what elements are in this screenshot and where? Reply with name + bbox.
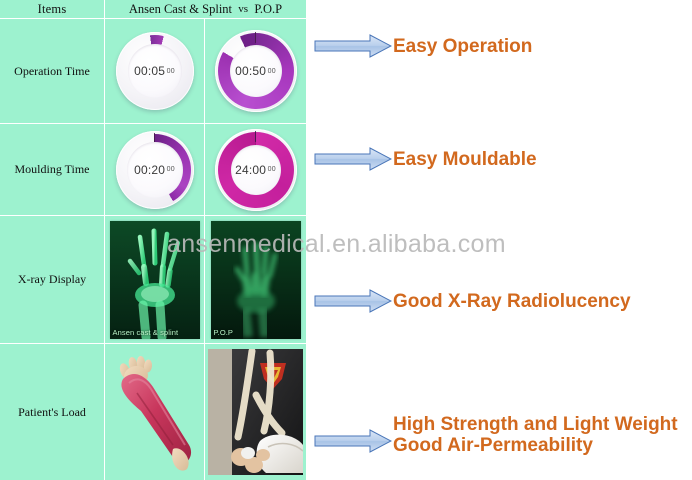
annotation-text-block: High Strength and Light Weight Good Air-… <box>392 414 678 456</box>
row-label-patients-load: Patient's Load <box>0 344 105 480</box>
photo-arm-sling <box>208 349 303 475</box>
pink-cast-arm-illustration <box>107 349 202 475</box>
table-row: Moulding Time 00:2000 <box>0 124 306 216</box>
gauge-value-sub: 00 <box>167 166 175 173</box>
right-arrow-icon <box>314 146 392 172</box>
cell-operation-time-pop: 00:5000 <box>205 19 306 123</box>
annotation-easy-operation: Easy Operation <box>314 33 532 59</box>
comparison-infographic: Items Ansen Cast & Splint vs P.O.P Opera… <box>0 0 692 480</box>
cell-moulding-time-pop: 24:0000 <box>205 124 306 215</box>
right-arrow-icon <box>314 428 392 454</box>
header-compare-cell: Ansen Cast & Splint vs P.O.P <box>105 0 306 18</box>
gauge-moulding-pop: 24:0000 <box>215 129 297 211</box>
cell-operation-time-ansen: 00:0500 <box>105 19 205 123</box>
annotation-strength-permeability: High Strength and Light Weight Good Air-… <box>314 414 678 456</box>
gauge-value: 00:05 <box>134 64 165 78</box>
gauge-value: 24:00 <box>235 163 266 177</box>
gauge-value-label: 24:0000 <box>215 129 297 211</box>
right-arrow-icon <box>314 288 392 314</box>
annotation-xray-radiolucency: Good X-Ray Radiolucency <box>314 288 631 314</box>
arm-sling-photo-illustration <box>208 349 303 475</box>
photo-pink-cast-arm <box>107 349 202 475</box>
header-product-right: P.O.P <box>254 2 282 17</box>
watermark-text: ansenmedical.en.alibaba.com <box>167 230 506 259</box>
gauge-value-label: 00:2000 <box>116 131 194 209</box>
cell-moulding-time-ansen: 00:2000 <box>105 124 205 215</box>
gauge-operation-pop: 00:5000 <box>215 30 297 112</box>
gauge-value-label: 00:5000 <box>215 30 297 112</box>
annotation-text: Easy Mouldable <box>393 149 537 170</box>
xray-caption: P.O.P <box>214 328 234 337</box>
gauge-value-sub: 00 <box>167 68 175 75</box>
annotation-text: Easy Operation <box>393 36 532 57</box>
annotation-easy-mouldable: Easy Mouldable <box>314 146 537 172</box>
table-header-row: Items Ansen Cast & Splint vs P.O.P <box>0 0 306 19</box>
header-vs: vs <box>238 3 248 15</box>
cell-load-ansen <box>105 344 205 480</box>
gauge-moulding-ansen: 00:2000 <box>116 131 194 209</box>
annotation-text-line-1: High Strength and Light Weight <box>393 414 678 435</box>
gauge-value-sub: 00 <box>268 166 276 173</box>
right-arrow-icon <box>314 33 392 59</box>
xray-caption: Ansen cast & splint <box>113 328 179 337</box>
gauge-value-label: 00:0500 <box>116 32 194 110</box>
table-row: Operation Time 00:0500 <box>0 19 306 124</box>
annotation-text: Good X-Ray Radiolucency <box>393 291 631 312</box>
cell-load-pop <box>205 344 306 480</box>
header-product-left: Ansen Cast & Splint <box>129 2 232 17</box>
gauge-value: 00:20 <box>134 163 165 177</box>
row-label-xray-display: X-ray Display <box>0 216 105 343</box>
gauge-operation-ansen: 00:0500 <box>116 32 194 110</box>
annotation-text-line-2: Good Air-Permeability <box>393 435 678 456</box>
table-row: Patient's Load <box>0 344 306 480</box>
gauge-value: 00:50 <box>235 64 266 78</box>
gauge-value-sub: 00 <box>268 68 276 75</box>
row-label-moulding-time: Moulding Time <box>0 124 105 215</box>
header-items-cell: Items <box>0 0 105 18</box>
row-label-operation-time: Operation Time <box>0 19 105 123</box>
